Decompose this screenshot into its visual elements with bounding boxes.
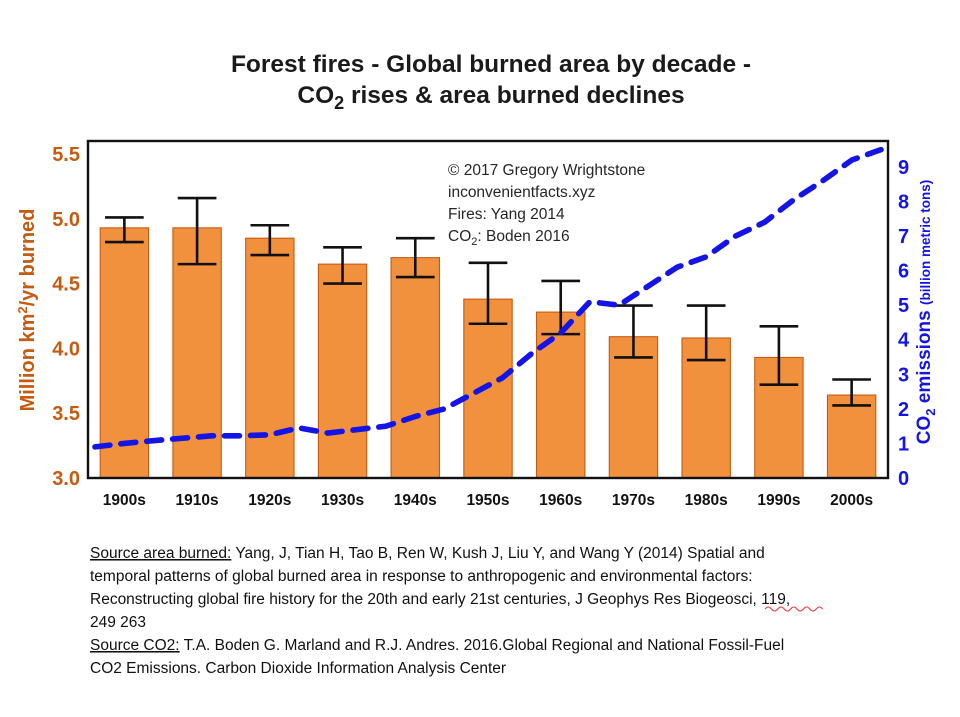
chart-title-line-1: Forest fires - Global burned area by dec…: [231, 51, 751, 78]
x-axis-tick-label: 1930s: [321, 492, 364, 509]
right-axis-title-sub: 2: [923, 409, 938, 416]
left-axis-title-sup: 2: [15, 306, 30, 313]
right-axis-title-units: (billion metric tons): [918, 180, 933, 305]
right-axis-tick-label: 2: [898, 399, 909, 421]
source-area-line-1: Source area burned: Yang, J, Tian H, Tao…: [90, 545, 765, 562]
bar: [827, 395, 875, 478]
x-axis-tick-label: 1940s: [394, 492, 437, 509]
x-axis-tick-label: 1900s: [103, 492, 146, 509]
right-axis-tick-label: 1: [898, 433, 909, 455]
annotation-fires-source: Fires: Yang 2014: [448, 206, 565, 223]
title-co2-text: CO: [297, 82, 334, 109]
bar: [318, 264, 366, 478]
x-axis-tick-label: 1950s: [466, 492, 509, 509]
source-area-line-2: temporal patterns of global burned area …: [90, 568, 753, 585]
x-axis-tick-label: 1990s: [757, 492, 800, 509]
right-axis-tick-label: 4: [898, 330, 910, 352]
bar: [246, 238, 294, 478]
source-area-label: Source area burned:: [90, 545, 231, 562]
annotation-website: inconvenientfacts.xyz: [448, 184, 595, 201]
annotation-copyright: © 2017 Gregory Wrightstone: [448, 162, 645, 179]
title-co2-subscript: 2: [334, 93, 344, 113]
title-rest-text: rises & area burned declines: [344, 82, 684, 109]
chart-title-line-2: CO2 rises & area burned declines: [297, 82, 684, 113]
left-axis-tick-label: 4.5: [52, 274, 80, 296]
left-axis-tick-label: 3.0: [52, 468, 80, 490]
right-axis-tick-label: 7: [898, 226, 909, 248]
source-area-line-3: Reconstructing global fire history for t…: [90, 591, 790, 608]
annotation-co2-text: CO: [448, 228, 471, 245]
left-axis-tick-label: 5.5: [52, 144, 80, 166]
chart-figure: Forest fires - Global burned area by dec…: [0, 0, 960, 717]
x-axis-tick-label: 1970s: [612, 492, 655, 509]
x-axis-tick-label: 1920s: [248, 492, 291, 509]
bar: [391, 258, 439, 478]
x-axis-tick-label: 1980s: [685, 492, 728, 509]
source-co2-label: Source CO2:: [90, 637, 180, 654]
right-axis-tick-label: 8: [898, 191, 909, 213]
x-axis-tick-label: 1960s: [539, 492, 582, 509]
x-axis-tick-label: 2000s: [830, 492, 873, 509]
x-axis-ticks: 1900s1910s1920s1930s1940s1950s1960s1970s…: [103, 492, 873, 509]
right-axis-title-co2: CO: [914, 416, 935, 445]
right-axis-tick-label: 3: [898, 364, 909, 386]
right-axis-tick-label: 0: [898, 468, 909, 490]
source-co2-line-1: Source CO2: T.A. Boden G. Marland and R.…: [90, 637, 784, 654]
left-axis-title-b: /yr burned: [17, 209, 39, 307]
bar: [537, 312, 585, 478]
x-axis-tick-label: 1910s: [176, 492, 219, 509]
left-axis-tick-label: 5.0: [52, 209, 80, 231]
source-co2-text-1: T.A. Boden G. Marland and R.J. Andres. 2…: [180, 637, 785, 654]
left-axis-title-a: Million km: [17, 314, 39, 412]
right-axis-tick-label: 9: [898, 157, 909, 179]
source-co2-line-2: CO2 Emissions. Carbon Dioxide Informatio…: [90, 660, 506, 677]
bar: [100, 228, 148, 478]
annotation-co2-rest: : Boden 2016: [477, 228, 569, 245]
right-axis-title-emissions: emissions: [914, 305, 935, 409]
source-area-text-1: Yang, J, Tian H, Tao B, Ren W, Kush J, L…: [231, 545, 764, 562]
left-axis-tick-label: 3.5: [52, 403, 80, 425]
right-axis-tick-label: 5: [898, 295, 909, 317]
source-area-line-4: 249 263: [90, 614, 146, 631]
right-axis-tick-label: 6: [898, 261, 909, 283]
left-axis-tick-label: 4.0: [52, 338, 80, 360]
